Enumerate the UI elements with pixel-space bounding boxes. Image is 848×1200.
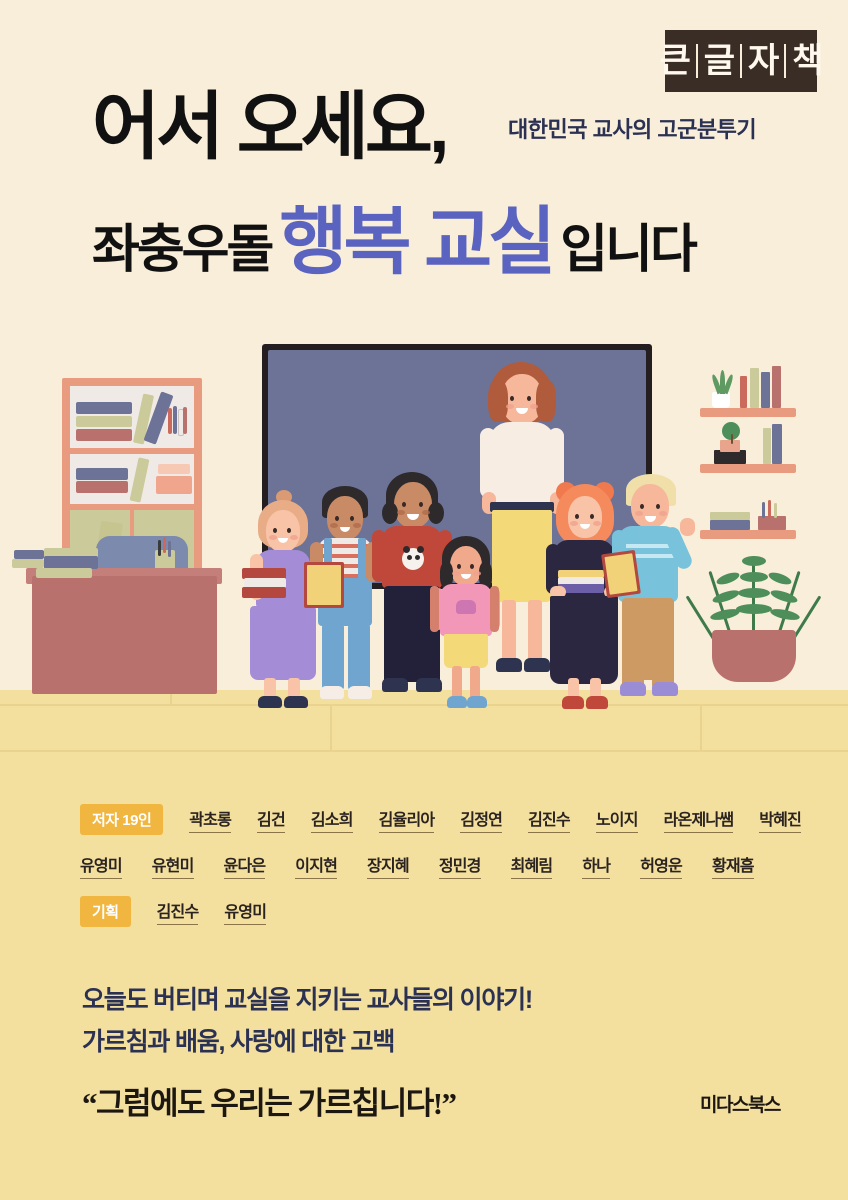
shelf-stand [714, 450, 746, 464]
author-name: 허영운 [640, 852, 682, 879]
author-name: 라온제나쌤 [664, 806, 734, 833]
wall-shelf-mid [700, 464, 796, 473]
authors-row-1: 저자 19인 곽초롱 김건 김소희 김율리아 김정연 김진수 노이지 라온제나쌤… [80, 804, 801, 835]
authors-section: 저자 19인 곽초롱 김건 김소희 김율리아 김정연 김진수 노이지 라온제나쌤… [0, 780, 848, 950]
book [710, 512, 750, 520]
author-name: 장지혜 [367, 852, 409, 879]
author-name: 최혜림 [511, 852, 553, 879]
pot [720, 440, 740, 452]
book [772, 424, 782, 464]
title-line-1: 어서 오세요, [92, 90, 446, 164]
backpack-strap [490, 586, 499, 632]
author-name: 김율리아 [379, 806, 435, 833]
author-name: 이지현 [295, 852, 337, 879]
author-name: 김소희 [311, 806, 353, 833]
title-highlight: 행복 교실 [279, 205, 552, 279]
keunglja-chaek-badge: 큰 글 자 책 [665, 30, 817, 92]
book-cover: 큰 글 자 책 대한민국 교사의 고군분투기 어서 오세요, 좌충우돌 행복 교… [0, 0, 848, 1200]
planner-name: 김진수 [157, 898, 199, 925]
figure-boy-overalls [310, 486, 380, 708]
box [156, 476, 192, 494]
book [772, 366, 781, 408]
quote-line: “그럼에도 우리는 가르칩니다!” [82, 1078, 456, 1123]
author-name: 박혜진 [759, 806, 801, 833]
binder [36, 568, 92, 578]
tray [758, 516, 786, 530]
badge-authors: 저자 19인 [80, 804, 163, 835]
author-name: 유현미 [152, 852, 194, 879]
binder [76, 429, 132, 441]
bottom-section: 오늘도 버티며 교실을 지키는 교사들의 이야기! 가르침과 배움, 사랑에 대… [0, 950, 848, 1200]
book [14, 550, 44, 559]
authors-row-2: 유영미 유현미 윤다은 이지현 장지혜 정민경 최혜림 하나 허영운 황재흠 [80, 852, 754, 879]
author-name: 하나 [582, 852, 610, 879]
book [763, 428, 771, 464]
brand-char-1: 큰 [653, 44, 695, 78]
brand-char-2: 글 [696, 44, 740, 78]
book [12, 559, 44, 568]
notebook-page [307, 565, 341, 605]
brand-char-4: 책 [784, 44, 828, 78]
title-suffix: 입니다 [560, 224, 695, 276]
author-name: 김건 [257, 806, 285, 833]
author-name: 정민경 [439, 852, 481, 879]
author-name: 유영미 [80, 852, 122, 879]
book [183, 407, 187, 434]
brand-char-3: 자 [740, 44, 784, 78]
dinosaur-graphic [456, 600, 476, 614]
blurb-line-2: 가르침과 배움, 사랑에 대한 고백 [82, 1022, 394, 1058]
book [242, 587, 286, 598]
author-name: 황재흠 [712, 852, 754, 879]
notebook-page [604, 553, 637, 595]
badge-planning: 기획 [80, 896, 131, 927]
planner-name: 유영미 [224, 898, 266, 925]
tagline: 대한민국 교사의 고군분투기 [508, 112, 756, 144]
classroom-illustration [0, 300, 848, 780]
book [710, 520, 750, 530]
book [750, 368, 759, 408]
publisher-logo: 미다스북스 [700, 1090, 780, 1117]
book [761, 372, 770, 408]
planning-row: 기획 김진수 유영미 [80, 896, 266, 927]
teacher-desk [32, 576, 217, 694]
author-name: 노이지 [596, 806, 638, 833]
book [168, 408, 172, 434]
author-name: 김진수 [528, 806, 570, 833]
binder [76, 402, 132, 414]
wall-shelf-bottom [700, 530, 796, 539]
title-prefix: 좌충우돌 [92, 224, 271, 276]
author-name: 윤다은 [224, 852, 266, 879]
figure-girl-dinosaur [434, 536, 498, 716]
title-line-2: 좌충우돌 행복 교실 입니다 [92, 205, 695, 279]
book [740, 376, 747, 408]
author-name: 곽초롱 [189, 806, 231, 833]
backpack-strap [430, 586, 439, 632]
author-name: 김정연 [460, 806, 502, 833]
blurb-line-1: 오늘도 버티며 교실을 지키는 교사들의 이야기! [82, 980, 532, 1016]
box [158, 464, 190, 474]
binder [76, 481, 128, 493]
wall-shelf-top [700, 408, 796, 417]
binder [76, 416, 132, 427]
figure-boy-blond [614, 474, 698, 714]
book [173, 406, 177, 434]
binder [76, 468, 128, 480]
title-area: 큰 글 자 책 대한민국 교사의 고군분투기 어서 오세요, 좌충우돌 행복 교… [0, 0, 848, 330]
